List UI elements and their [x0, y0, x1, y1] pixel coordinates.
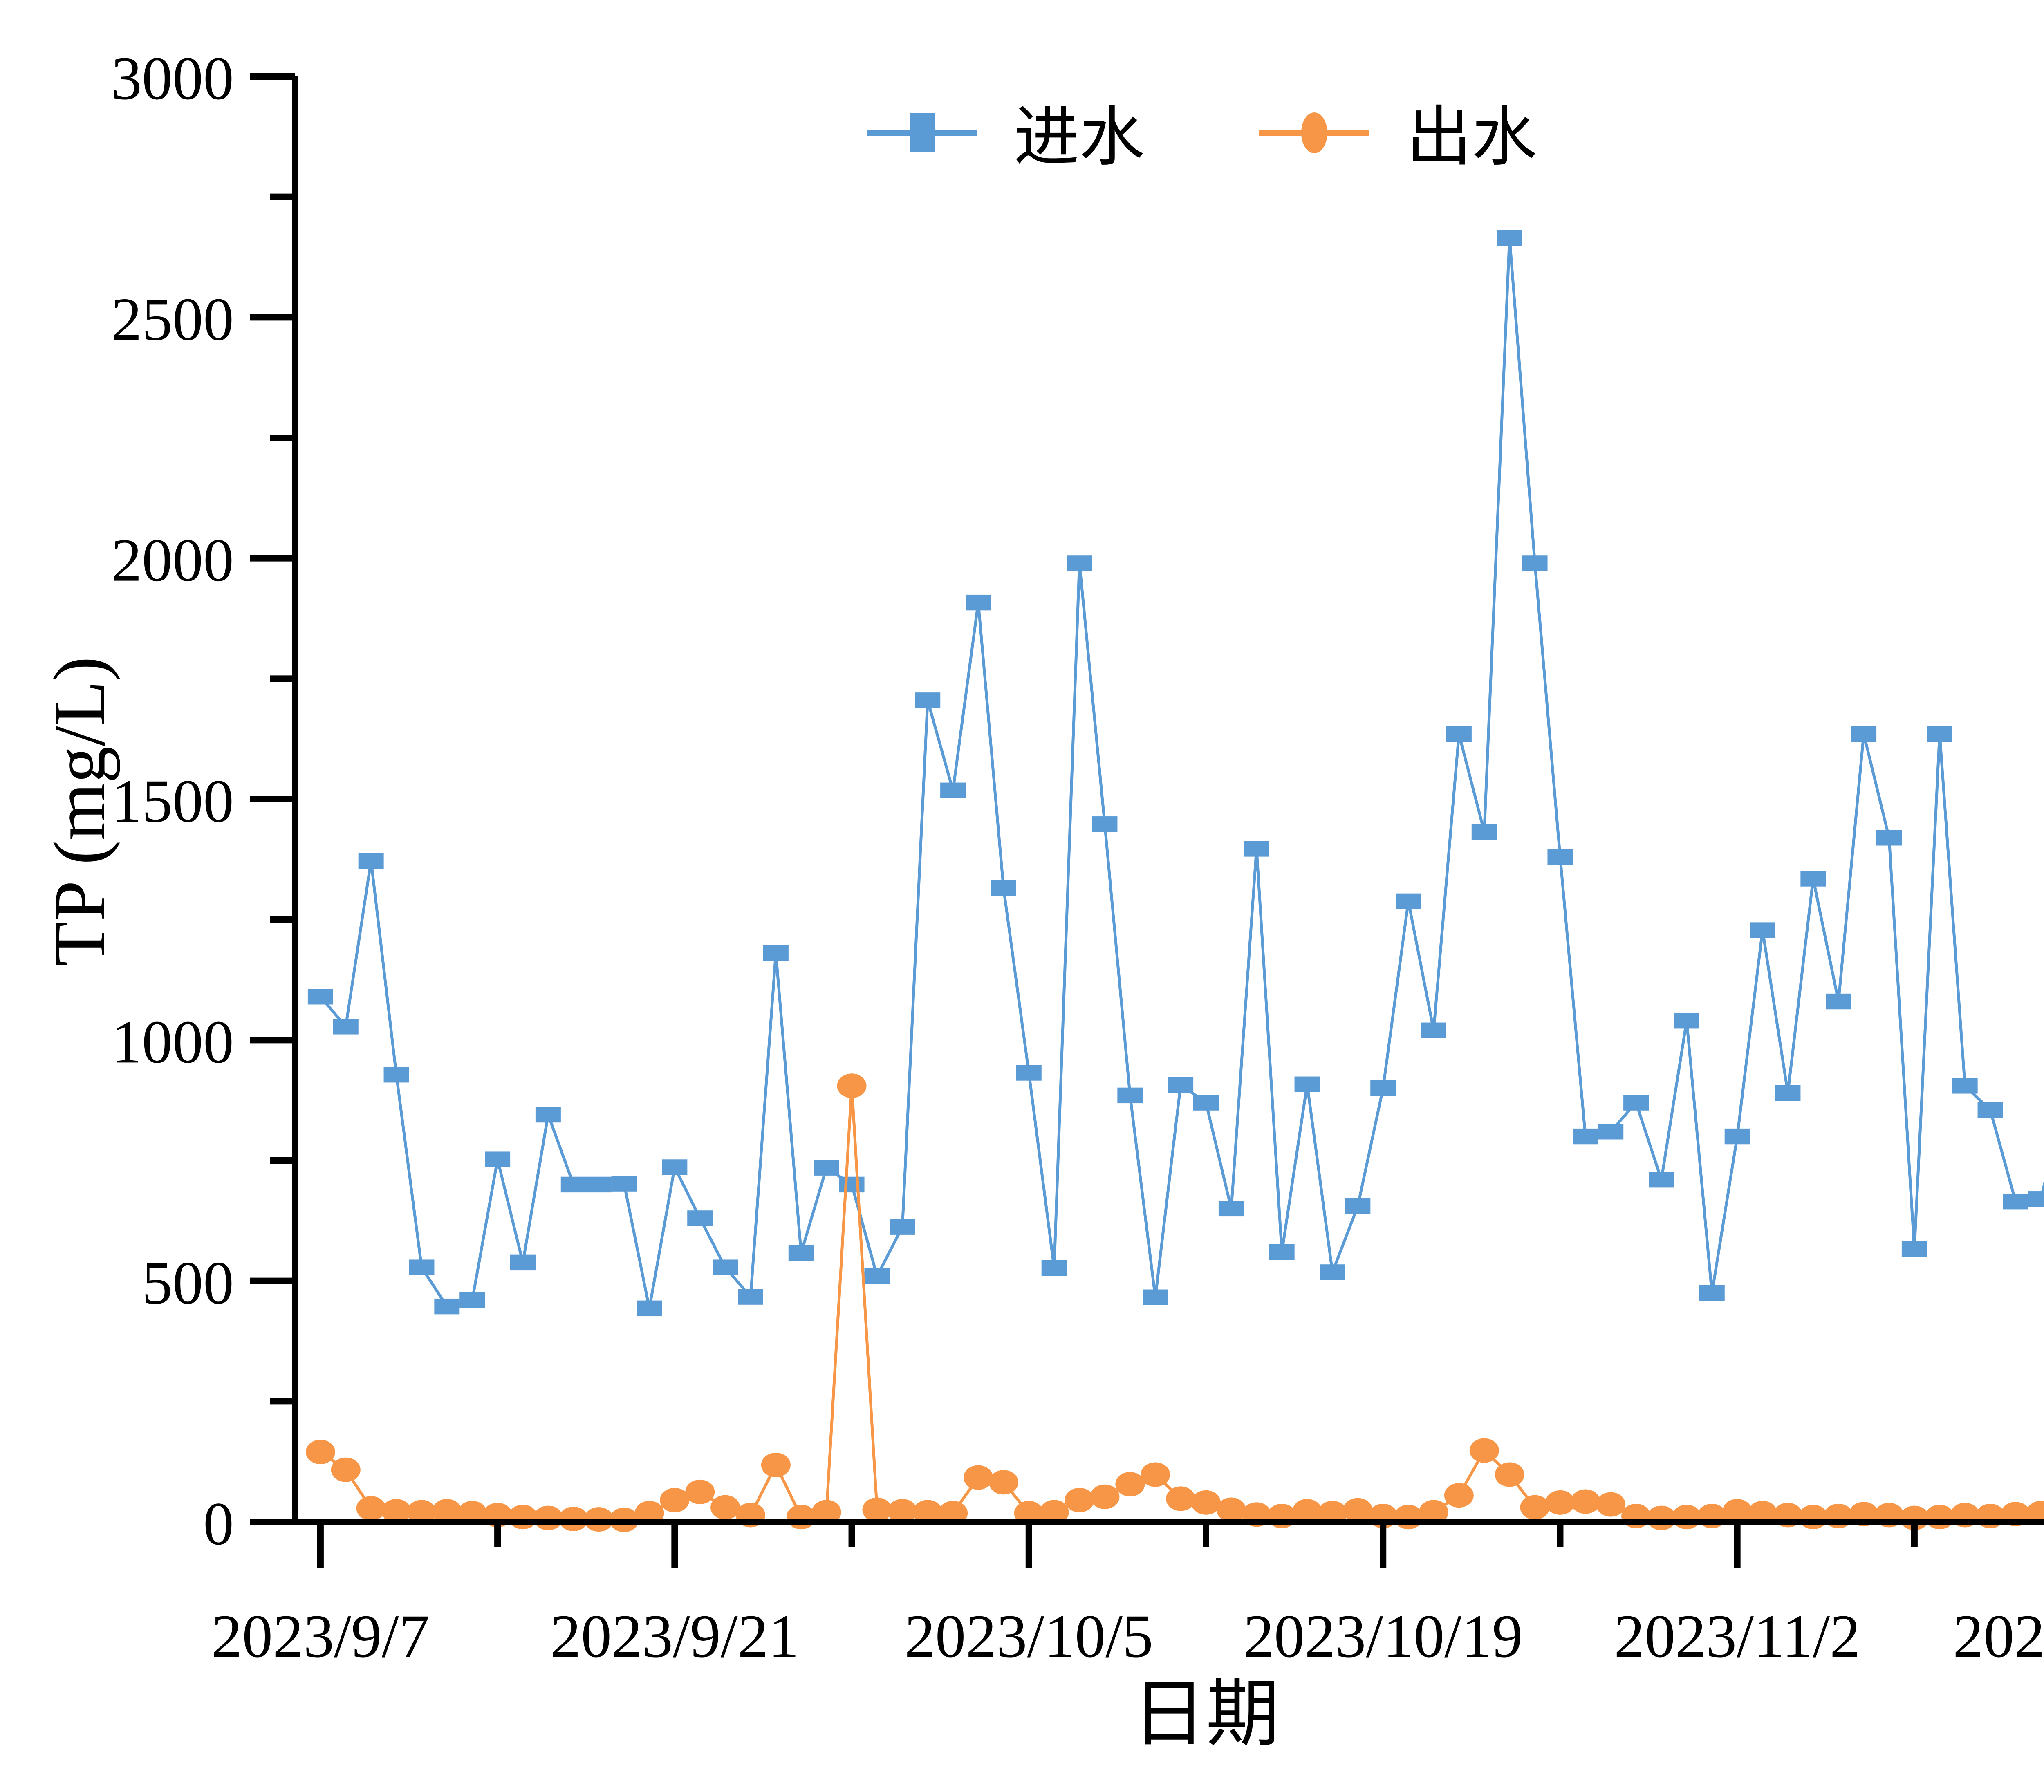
- data-point-marker: [1647, 1506, 1676, 1530]
- legend-square-marker: [910, 113, 935, 152]
- data-point-marker: [637, 1301, 662, 1316]
- data-point-marker: [333, 1019, 359, 1034]
- data-point-marker: [331, 1458, 361, 1482]
- data-point-marker: [1295, 1077, 1320, 1092]
- data-point-marker: [1219, 1201, 1244, 1216]
- data-point-marker: [1320, 1264, 1345, 1280]
- data-point-marker: [662, 1159, 687, 1175]
- data-point-marker: [763, 945, 789, 961]
- data-point-marker: [356, 1496, 386, 1521]
- data-point-marker: [1798, 1505, 1828, 1529]
- y-axis-tick-label: 3000: [111, 45, 234, 112]
- data-point-marker: [384, 1067, 409, 1082]
- chart-container: 0500100015002000250030002023/9/72023/9/2…: [0, 0, 2044, 1792]
- legend-circle-marker: [1301, 112, 1327, 153]
- data-point-marker: [1775, 1085, 1800, 1101]
- data-point-marker: [1217, 1498, 1246, 1522]
- y-axis-tick-label: 500: [142, 1249, 234, 1317]
- data-point-marker: [1090, 1485, 1119, 1509]
- data-point-marker: [1495, 1462, 1524, 1487]
- data-point-marker: [1141, 1462, 1170, 1487]
- data-point-marker: [1522, 555, 1548, 571]
- data-point-marker: [1168, 1077, 1193, 1093]
- data-point-marker: [434, 1299, 459, 1314]
- x-axis-tick-label: 2023/10/5: [905, 1602, 1153, 1670]
- data-point-marker: [789, 1245, 814, 1261]
- data-point-marker: [1067, 555, 1092, 571]
- data-point-marker: [1497, 230, 1522, 246]
- legend-label: 出水: [1406, 101, 1537, 174]
- data-point-marker: [1143, 1290, 1168, 1305]
- data-point-marker: [685, 1480, 715, 1504]
- y-axis-title: TP (mg/L): [39, 656, 120, 966]
- data-point-marker: [839, 1177, 865, 1192]
- data-point-marker: [1826, 994, 1851, 1009]
- data-point-marker: [713, 1259, 738, 1275]
- data-point-marker: [1623, 1095, 1649, 1110]
- x-axis-tick-label: 2023/9/21: [550, 1602, 799, 1670]
- data-point-marker: [890, 1219, 915, 1234]
- data-point-marker: [1244, 841, 1269, 856]
- data-point-marker: [940, 783, 966, 798]
- x-axis-title-group: 日期: [1132, 1674, 1280, 1755]
- data-point-marker: [359, 853, 384, 869]
- data-point-marker: [1978, 1102, 2003, 1118]
- x-axis-tick-label: 2023/11/16: [1953, 1602, 2044, 1670]
- data-point-marker: [660, 1488, 689, 1512]
- data-point-marker: [1345, 1198, 1370, 1214]
- data-point-marker: [308, 989, 333, 1004]
- data-point-marker: [1115, 1472, 1145, 1496]
- data-point-marker: [837, 1073, 867, 1098]
- data-point-marker: [1166, 1486, 1195, 1511]
- data-point-marker: [1699, 1285, 1725, 1301]
- data-point-marker: [710, 1495, 740, 1520]
- data-point-marker: [1750, 922, 1775, 938]
- data-point-marker: [1649, 1172, 1674, 1187]
- data-point-marker: [536, 1107, 561, 1122]
- data-point-marker: [1596, 1492, 1625, 1517]
- data-point-marker: [787, 1505, 816, 1529]
- data-point-marker: [1396, 894, 1421, 909]
- data-point-marker: [1545, 1490, 1575, 1515]
- data-point-marker: [964, 1465, 993, 1490]
- data-point-marker: [1394, 1505, 1423, 1529]
- x-axis-tick-label: 2023/10/19: [1244, 1602, 1523, 1670]
- data-point-marker: [485, 1151, 510, 1167]
- data-point-marker: [1444, 1483, 1474, 1508]
- data-point-marker: [586, 1177, 612, 1192]
- data-point-marker: [1191, 1490, 1221, 1515]
- data-point-marker: [864, 1268, 890, 1284]
- data-point-marker: [915, 692, 940, 708]
- data-point-marker: [1672, 1505, 1701, 1529]
- data-point-marker: [1925, 1505, 1954, 1529]
- data-point-marker: [1674, 1013, 1699, 1028]
- y-axis-tick-label: 1500: [111, 767, 234, 835]
- data-point-marker: [612, 1176, 637, 1191]
- data-point-marker: [1421, 1023, 1446, 1038]
- data-point-marker: [1876, 830, 1902, 845]
- data-point-marker: [1470, 1438, 1499, 1463]
- data-point-marker: [1117, 1088, 1143, 1103]
- y-axis-title-group: TP (mg/L): [39, 656, 120, 966]
- data-point-marker: [1851, 726, 1876, 742]
- data-point-marker: [966, 595, 991, 610]
- data-point-marker: [814, 1160, 839, 1175]
- data-point-marker: [1952, 1078, 1978, 1093]
- chart-plot: 0500100015002000250030002023/9/72023/9/2…: [0, 0, 2044, 1792]
- data-point-marker: [1193, 1095, 1219, 1110]
- data-point-marker: [1446, 726, 1472, 742]
- data-point-marker: [738, 1289, 763, 1304]
- data-point-marker: [687, 1210, 713, 1226]
- data-point-marker: [1269, 1244, 1295, 1260]
- legend-label: 进水: [1014, 101, 1145, 174]
- data-point-marker: [1800, 871, 1826, 886]
- y-axis-tick-label: 1000: [111, 1008, 234, 1076]
- data-point-marker: [1902, 1241, 1927, 1257]
- data-point-marker: [409, 1259, 434, 1275]
- data-point-marker: [306, 1440, 335, 1464]
- y-axis-tick-label: 0: [203, 1490, 234, 1558]
- x-axis-tick-label: 2023/9/7: [211, 1602, 429, 1670]
- data-point-marker: [1571, 1489, 1600, 1514]
- data-point-marker: [1370, 1080, 1396, 1096]
- data-point-marker: [533, 1506, 563, 1530]
- data-point-marker: [991, 880, 1016, 896]
- data-point-marker: [1042, 1260, 1067, 1276]
- data-point-marker: [1472, 824, 1497, 840]
- data-point-marker: [2003, 1194, 2028, 1209]
- data-point-marker: [1927, 726, 1952, 742]
- y-axis-tick-label: 2000: [111, 526, 234, 594]
- data-point-marker: [1092, 816, 1117, 832]
- y-axis-tick-label: 2500: [111, 285, 234, 353]
- data-point-marker: [862, 1498, 892, 1522]
- data-point-marker: [561, 1177, 586, 1192]
- data-point-marker: [459, 1292, 485, 1308]
- data-point-marker: [1547, 849, 1573, 865]
- data-point-marker: [2028, 1191, 2044, 1207]
- data-point-marker: [1725, 1129, 1750, 1144]
- data-point-marker: [1573, 1129, 1598, 1144]
- data-point-marker: [1520, 1495, 1550, 1520]
- data-point-marker: [989, 1470, 1018, 1494]
- data-point-marker: [1598, 1124, 1623, 1139]
- data-point-marker: [508, 1505, 538, 1529]
- x-axis-title: 日期: [1132, 1674, 1280, 1755]
- x-axis-tick-label: 2023/11/2: [1614, 1602, 1860, 1670]
- data-point-marker: [510, 1255, 536, 1270]
- data-point-marker: [1065, 1488, 1094, 1512]
- data-point-marker: [761, 1453, 791, 1477]
- data-point-marker: [1016, 1065, 1042, 1080]
